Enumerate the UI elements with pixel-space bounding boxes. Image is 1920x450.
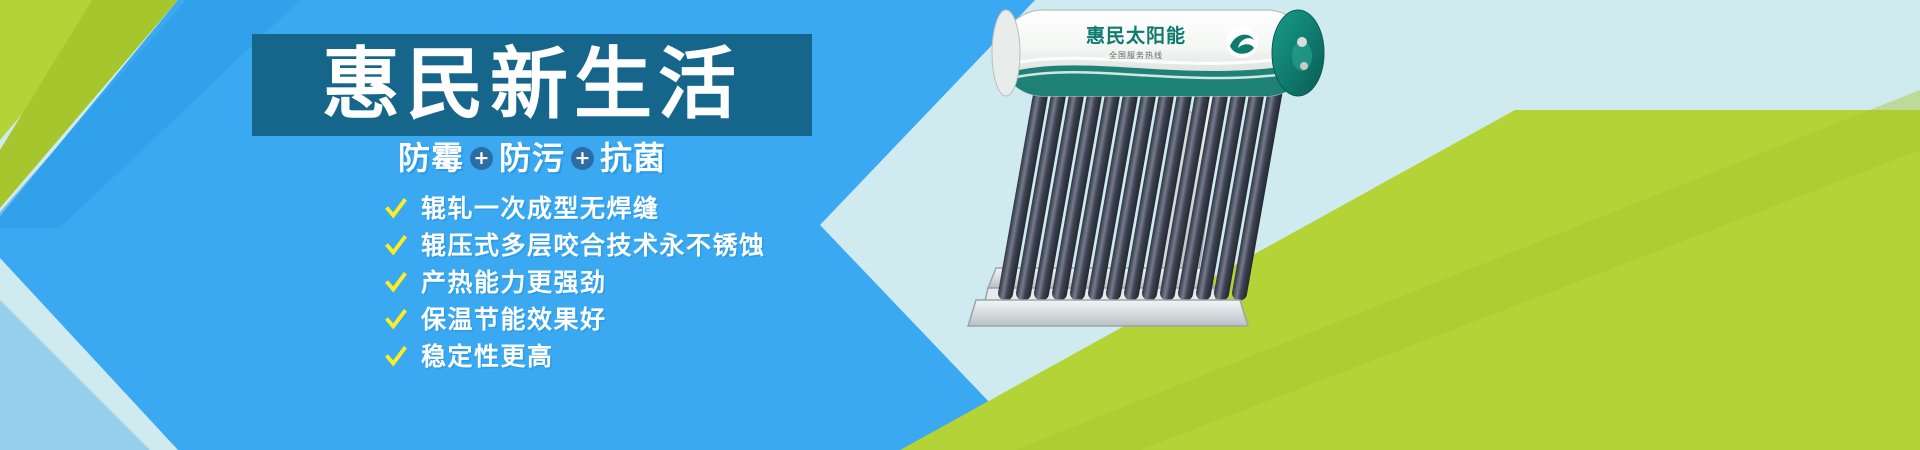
list-item: 稳定性更高 (385, 340, 766, 373)
subtitle-word-1: 防霉 (398, 142, 464, 174)
plus-icon-1: + (470, 147, 493, 170)
tank-left-cap (992, 10, 1020, 96)
storage-tank: 惠民太阳能 全国服务热线 (992, 10, 1324, 96)
tank-brand-text: 惠民太阳能 (1086, 24, 1186, 47)
subtitle-word-2: 防污 (499, 142, 565, 174)
list-item-label: 辊压式多层咬合技术永不锈蚀 (421, 233, 766, 258)
tank-sub-text: 全国服务热线 (1109, 50, 1163, 60)
subtitle-word-3: 抗菌 (600, 142, 666, 174)
list-item: 辊轧一次成型无焊缝 (385, 192, 766, 225)
product-photo: 惠民太阳能 全国服务热线 (940, 0, 1460, 380)
check-icon (385, 235, 407, 257)
base-rail (968, 300, 1248, 326)
check-icon (385, 272, 407, 294)
subtitle-row: 防霉 + 防污 + 抗菌 (252, 142, 812, 174)
list-item-label: 稳定性更高 (421, 344, 554, 369)
wave-swirl-logo-icon (1226, 26, 1258, 58)
list-item-label: 产热能力更强劲 (421, 270, 607, 295)
list-item-label: 辊轧一次成型无焊缝 (421, 196, 660, 221)
check-icon (385, 309, 407, 331)
page-title: 惠民新生活 (322, 46, 742, 124)
list-item-label: 保温节能效果好 (421, 307, 607, 332)
vacuum-tube-array (997, 70, 1286, 301)
check-icon (385, 198, 407, 220)
feature-list: 辊轧一次成型无焊缝 辊压式多层咬合技术永不锈蚀 产热能力更强劲 保温节能效果好 (385, 192, 766, 373)
list-item: 辊压式多层咬合技术永不锈蚀 (385, 229, 766, 262)
solar-water-heater-illustration: 惠民太阳能 全国服务热线 (940, 0, 1460, 380)
promo-banner: 惠民新生活 防霉 + 防污 + 抗菌 辊轧一次成型无焊缝 辊压式多层咬合技术永不… (0, 0, 1920, 450)
list-item: 保温节能效果好 (385, 303, 766, 336)
check-icon (385, 346, 407, 368)
plus-icon-2: + (571, 147, 594, 170)
list-item: 产热能力更强劲 (385, 266, 766, 299)
title-panel: 惠民新生活 (252, 34, 812, 136)
